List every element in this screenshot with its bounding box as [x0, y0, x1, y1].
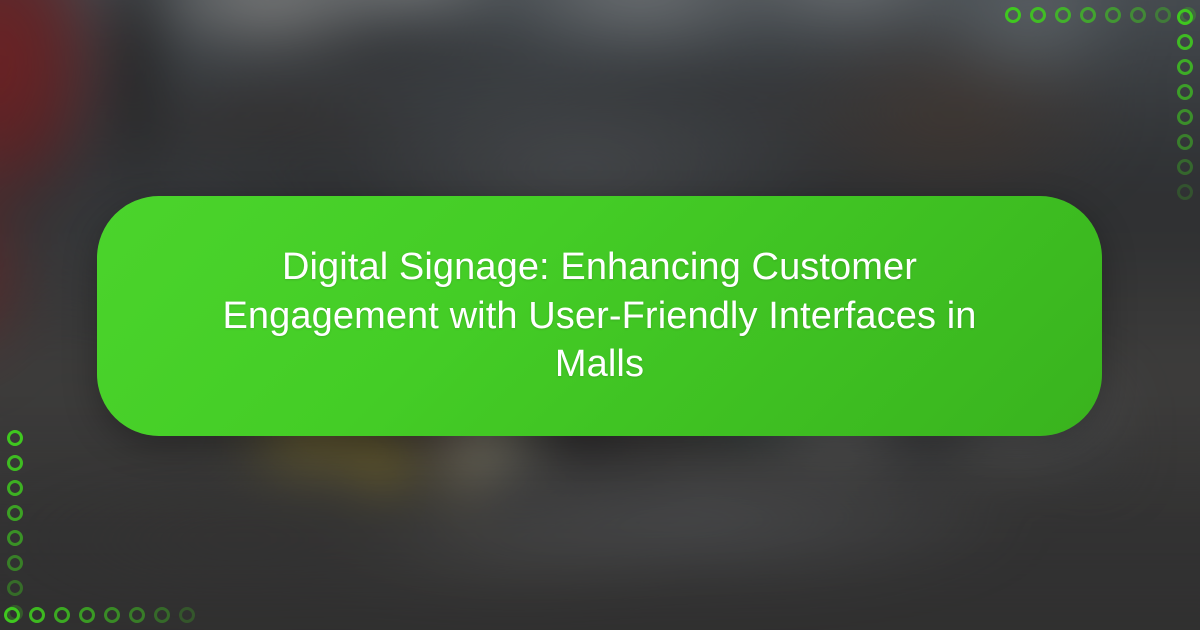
- circle-outline-icon: [1177, 134, 1193, 150]
- circle-outline-icon: [1005, 7, 1021, 23]
- circle-outline-icon: [129, 607, 145, 623]
- decoration-dots-top-right: [990, 0, 1200, 30]
- circle-outline-icon: [1177, 84, 1193, 100]
- circle-outline-icon: [7, 530, 23, 546]
- circle-outline-icon: [1080, 7, 1096, 23]
- circle-outline-icon: [29, 607, 45, 623]
- circle-outline-icon: [1155, 7, 1171, 23]
- circle-outline-icon: [1177, 109, 1193, 125]
- circle-outline-icon: [7, 480, 23, 496]
- circle-outline-icon: [179, 607, 195, 623]
- circle-outline-icon: [1177, 184, 1193, 200]
- circle-outline-icon: [1177, 9, 1193, 25]
- circle-outline-icon: [1030, 7, 1046, 23]
- circle-outline-icon: [1055, 7, 1071, 23]
- decoration-dots-right-column: [1170, 0, 1200, 200]
- circle-outline-icon: [104, 607, 120, 623]
- decoration-dots-left-column: [0, 430, 30, 630]
- page-title: Digital Signage: Enhancing Customer Enga…: [205, 243, 995, 389]
- circle-outline-icon: [7, 555, 23, 571]
- circle-outline-icon: [7, 505, 23, 521]
- article-banner: Digital Signage: Enhancing Customer Enga…: [0, 0, 1200, 630]
- circle-outline-icon: [1105, 7, 1121, 23]
- decoration-dots-bottom-left: [0, 600, 210, 630]
- circle-outline-icon: [1130, 7, 1146, 23]
- circle-outline-icon: [1177, 59, 1193, 75]
- circle-outline-icon: [54, 607, 70, 623]
- circle-outline-icon: [1177, 159, 1193, 175]
- title-card: Digital Signage: Enhancing Customer Enga…: [97, 196, 1102, 436]
- circle-outline-icon: [154, 607, 170, 623]
- circle-outline-icon: [7, 605, 23, 621]
- circle-outline-icon: [7, 430, 23, 446]
- circle-outline-icon: [79, 607, 95, 623]
- circle-outline-icon: [7, 580, 23, 596]
- circle-outline-icon: [1177, 34, 1193, 50]
- circle-outline-icon: [7, 455, 23, 471]
